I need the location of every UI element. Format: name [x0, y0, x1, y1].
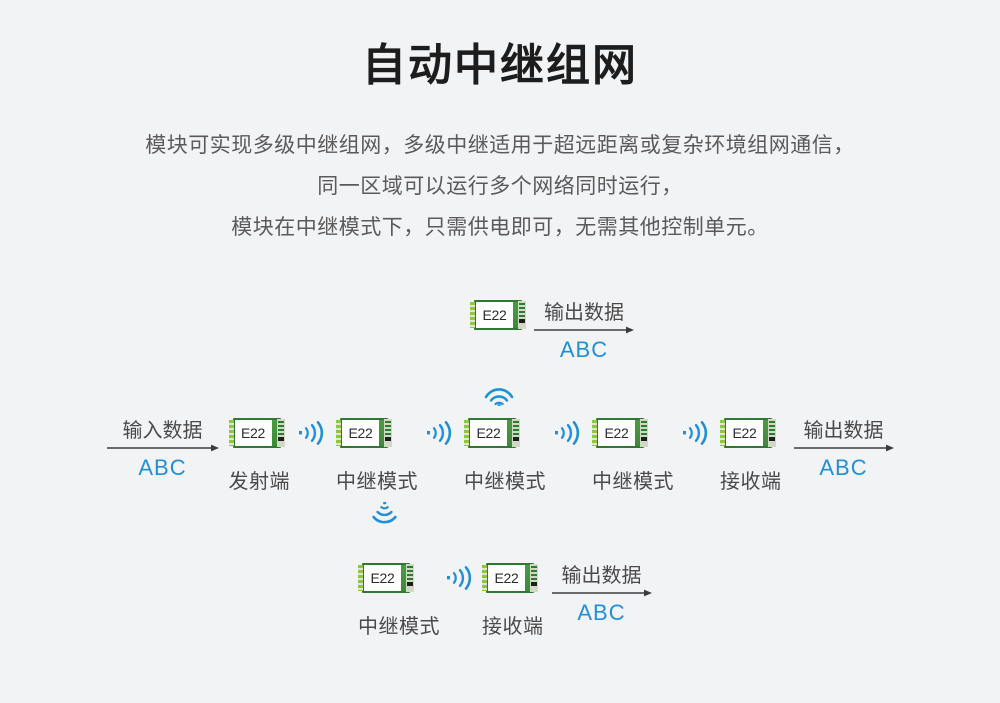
node-receiver: E22 接收端	[720, 418, 782, 494]
e22-module-graphic: E22	[470, 300, 526, 330]
wireless-signal-right-icon	[446, 565, 476, 591]
module-pads-right-icon	[530, 564, 538, 592]
bottom-output-label: 输出数据	[552, 563, 652, 589]
module-pins-left-icon	[720, 420, 725, 446]
page-title: 自动中继组网	[0, 40, 1000, 93]
wireless-signal-right-icon	[554, 420, 584, 446]
output-flow-value: ABC	[794, 454, 894, 482]
page-description: 模块可实现多级中继组网，多级中继适用于超远距离或复杂环境组网通信， 同一区域可以…	[0, 125, 1000, 248]
input-flow-label: 输入数据	[107, 418, 219, 444]
main-chain-row: 输入数据 ABC E22 发射端	[0, 418, 1000, 494]
module-pads-right-icon	[512, 419, 520, 447]
wireless-signal-up-icon	[482, 380, 516, 411]
e22-module-graphic: E22	[482, 563, 538, 593]
output-flow-label: 输出数据	[794, 418, 894, 444]
arrow-right-icon	[534, 326, 634, 336]
node-top-receiver: E22	[470, 300, 526, 330]
module-pins-left-icon	[482, 565, 487, 591]
wireless-signal-right-icon	[298, 420, 328, 446]
module-pads-right-icon	[640, 419, 648, 447]
description-line-1: 模块可实现多级中继组网，多级中继适用于超远距离或复杂环境组网通信，	[0, 125, 1000, 166]
module-label: E22	[340, 418, 381, 448]
module-pads-right-icon	[768, 419, 776, 447]
node-bottom-receiver: E22 接收端	[482, 563, 544, 639]
bottom-branch-group: E22 中继模式 E22	[358, 563, 652, 639]
wireless-signal-right-icon	[426, 420, 456, 446]
node-transmitter: E22 发射端	[229, 418, 291, 494]
output-flow: 输出数据 ABC	[794, 418, 894, 482]
module-pads-right-icon	[406, 564, 414, 592]
e22-module-graphic: E22	[229, 418, 285, 448]
module-label: E22	[362, 563, 403, 593]
node-caption: 发射端	[229, 465, 291, 494]
bottom-output-flow: 输出数据 ABC	[552, 563, 652, 627]
relay-network-diagram: E22 输出数据 ABC	[0, 280, 1000, 700]
module-label: E22	[596, 418, 637, 448]
module-label: E22	[474, 300, 515, 330]
node-caption: 接收端	[482, 610, 544, 639]
node-caption: 中继模式	[336, 465, 418, 494]
arrow-right-icon	[794, 444, 894, 454]
module-label: E22	[486, 563, 527, 593]
e22-module-graphic: E22	[358, 563, 414, 593]
node-relay-1: E22 中继模式	[336, 418, 418, 494]
module-pins-left-icon	[336, 420, 341, 446]
wireless-signal-right-icon	[682, 420, 712, 446]
module-pins-left-icon	[358, 565, 363, 591]
module-label: E22	[468, 418, 509, 448]
module-label: E22	[233, 418, 274, 448]
e22-module-graphic: E22	[592, 418, 648, 448]
node-relay-2: E22 中继模式	[464, 418, 546, 494]
node-caption: 中继模式	[592, 465, 674, 494]
node-relay-3: E22 中继模式	[592, 418, 674, 494]
top-output-flow: 输出数据 ABC	[534, 300, 634, 364]
node-caption: 接收端	[720, 465, 782, 494]
module-pins-left-icon	[470, 302, 475, 328]
node-caption: 中继模式	[464, 465, 546, 494]
node-caption: 中继模式	[358, 610, 440, 639]
module-pads-right-icon	[277, 419, 285, 447]
e22-module-graphic: E22	[336, 418, 392, 448]
module-pads-right-icon	[384, 419, 392, 447]
input-flow: 输入数据 ABC	[107, 418, 219, 482]
e22-module-graphic: E22	[464, 418, 520, 448]
module-pins-left-icon	[592, 420, 597, 446]
wireless-signal-down-icon	[370, 502, 400, 531]
page-root: 自动中继组网 模块可实现多级中继组网，多级中继适用于超远距离或复杂环境组网通信，…	[0, 0, 1000, 703]
module-pads-right-icon	[518, 301, 526, 329]
e22-module-graphic: E22	[720, 418, 776, 448]
arrow-right-icon	[107, 444, 219, 454]
top-branch-group: E22 输出数据 ABC	[470, 300, 634, 364]
module-pins-left-icon	[464, 420, 469, 446]
module-pins-left-icon	[229, 420, 234, 446]
module-label: E22	[724, 418, 765, 448]
input-flow-value: ABC	[107, 454, 219, 482]
arrow-right-icon	[552, 589, 652, 599]
node-bottom-relay: E22 中继模式	[358, 563, 440, 639]
description-line-2: 同一区域可以运行多个网络同时运行，	[0, 166, 1000, 207]
top-output-value: ABC	[534, 336, 634, 364]
bottom-output-value: ABC	[552, 599, 652, 627]
description-line-3: 模块在中继模式下，只需供电即可，无需其他控制单元。	[0, 207, 1000, 248]
top-output-label: 输出数据	[534, 300, 634, 326]
